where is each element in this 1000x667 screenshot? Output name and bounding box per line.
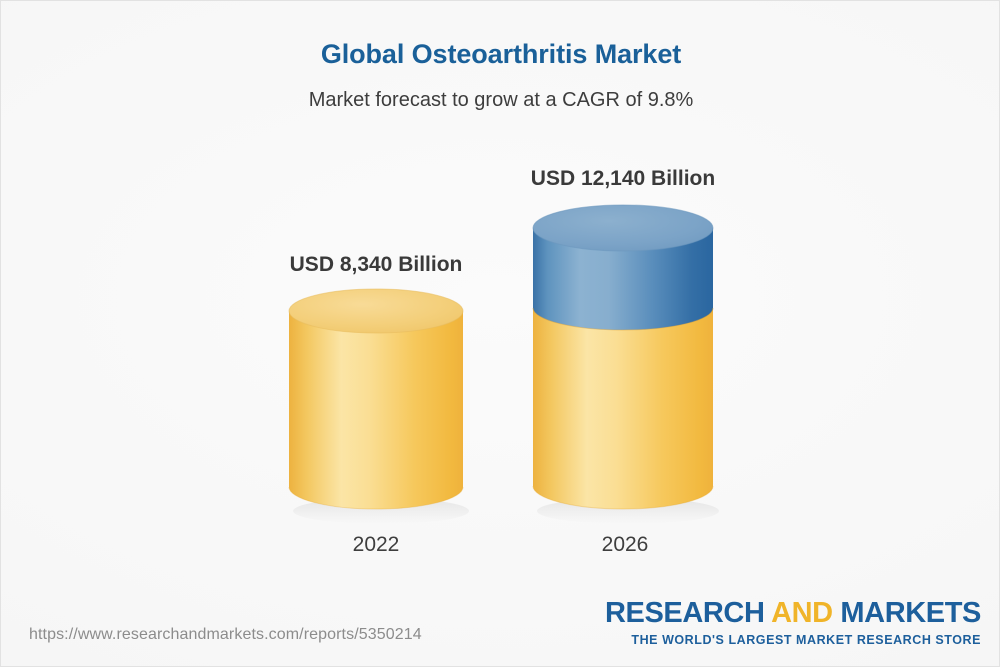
page-subtitle: Market forecast to grow at a CAGR of 9.8… <box>1 89 1000 112</box>
bar-body-2022 <box>289 311 463 509</box>
bar-cylinder-2022 <box>289 289 465 515</box>
bar-cylinder-2026 <box>533 204 715 516</box>
bar-value-label-2022: USD 8,340 Billion <box>276 253 476 277</box>
brand-word-research: RESEARCH <box>605 597 765 629</box>
brand-word-and: AND <box>771 597 833 629</box>
brand-wordmark: RESEARCH AND MARKETS <box>605 599 981 628</box>
bar-value-label-2026: USD 12,140 Billion <box>523 167 723 191</box>
bar-category-label-2026: 2026 <box>525 533 725 557</box>
bar-category-label-2022: 2022 <box>276 533 476 557</box>
brand-tagline: THE WORLD'S LARGEST MARKET RESEARCH STOR… <box>605 634 981 647</box>
infographic-card: Global Osteoarthritis Market Market fore… <box>0 0 1000 667</box>
brand-word-markets: MARKETS <box>840 597 981 629</box>
source-url[interactable]: https://www.researchandmarkets.com/repor… <box>29 626 422 644</box>
brand-logo[interactable]: RESEARCH AND MARKETS THE WORLD'S LARGEST… <box>605 599 981 647</box>
page-title: Global Osteoarthritis Market <box>1 39 1000 70</box>
